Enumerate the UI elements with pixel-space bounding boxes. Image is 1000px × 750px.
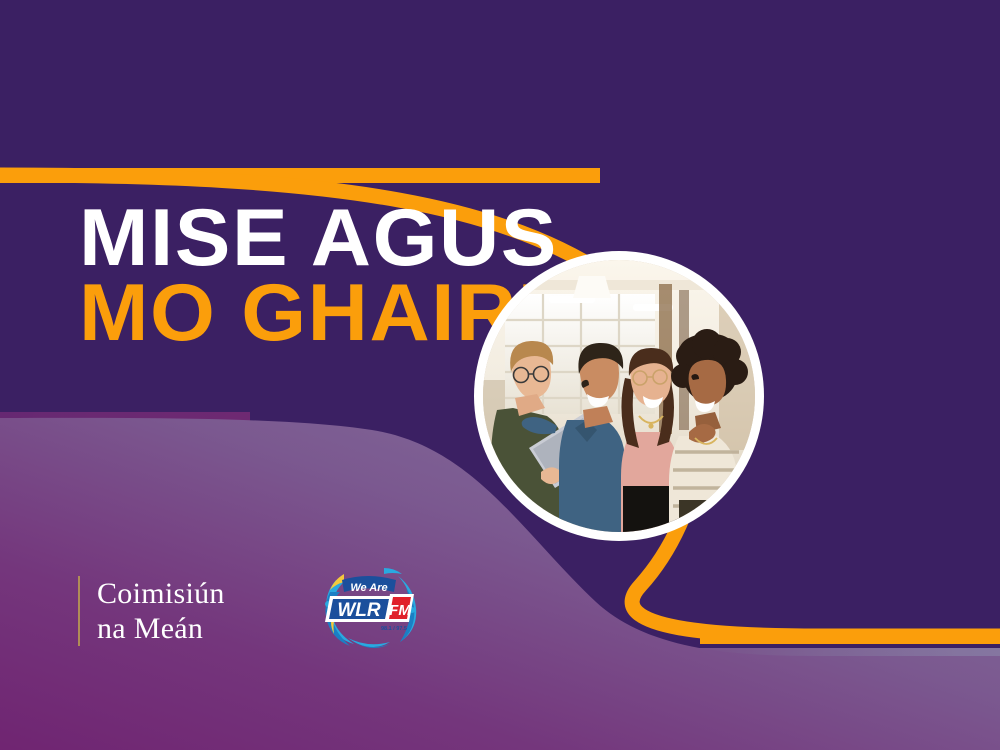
coimisiun-na-mean-logo: Coimisiún na Meán [78,576,225,646]
logo-line-1: Coimisiún [97,576,225,611]
headline-line-1: MISE AGUS [79,203,589,274]
logo-text: Coimisiún na Meán [97,576,225,646]
svg-text:WLR: WLR [337,600,381,621]
wlr-fm-logo: We Are WLR FM 98.1 / 97.5 [314,558,424,650]
wlr-frequency: 98.1 / 97.5 [381,626,407,632]
wlr-callsign: WLR [325,596,392,622]
logo-line-2: na Meán [97,611,225,646]
wlr-band: FM [385,594,414,622]
photo-circle-frame [474,251,764,541]
logo-rule [78,576,80,646]
svg-text:FM: FM [389,602,411,619]
group-photo [483,260,755,532]
promo-poster: MISE AGUS MO GHAIRM [0,0,1000,750]
wlr-tagline: We Are [342,576,396,594]
svg-text:We Are: We Are [350,582,387,594]
